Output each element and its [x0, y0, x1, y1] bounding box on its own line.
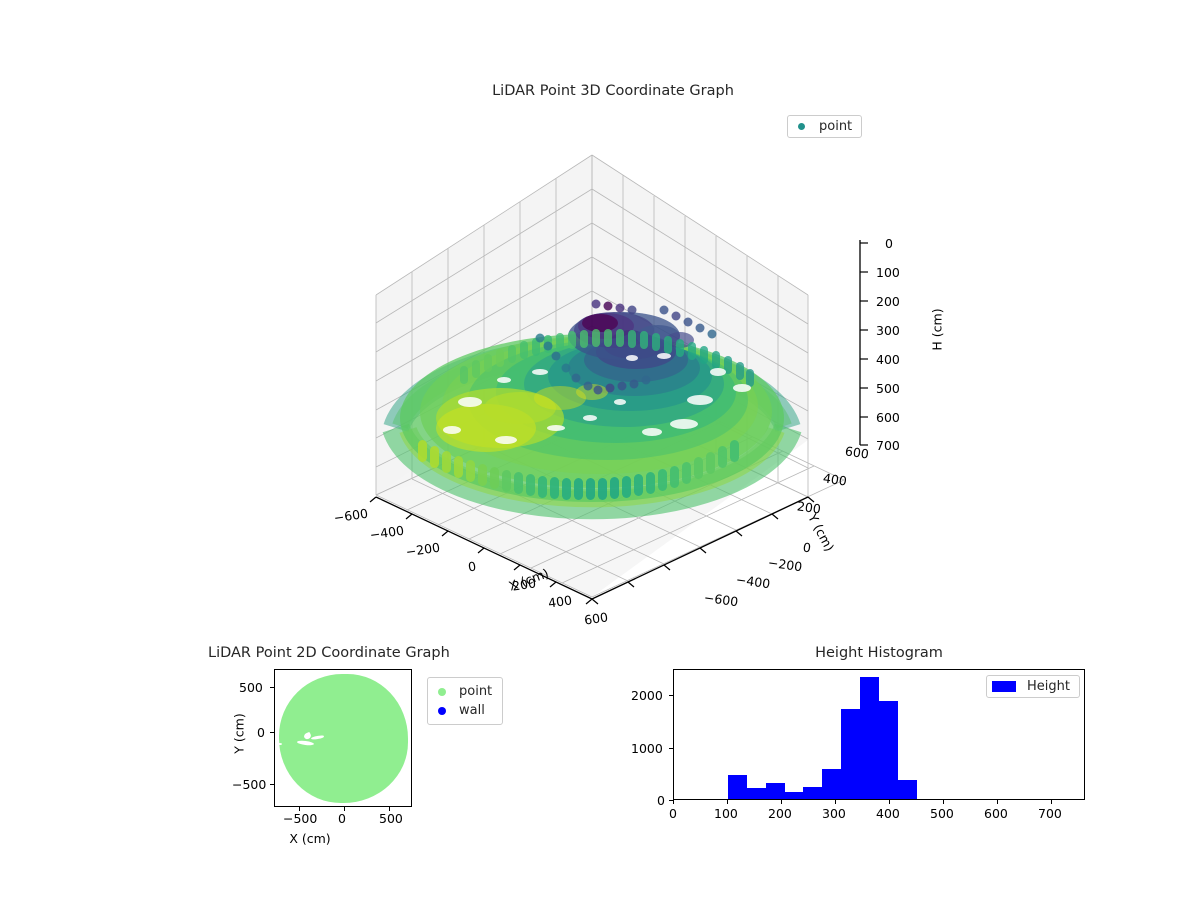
plot2d-ytickmark-0: [270, 687, 274, 688]
plot2d-xlabel: X (cm): [0, 831, 412, 846]
histogram-xtick-6: 600: [984, 806, 1008, 821]
legend-marker-wall-2d: [438, 707, 446, 715]
histogram-bar: [822, 769, 841, 799]
histogram-bar: [898, 780, 917, 799]
histogram-xtick-2: 200: [768, 806, 792, 821]
legend-label-wall-2d: wall: [459, 703, 485, 718]
histogram-bar: [728, 775, 747, 799]
plot2d-xtickmark-0: [299, 807, 300, 811]
histogram-xtick-1: 100: [714, 806, 738, 821]
plot3d-ztick-0: 0: [885, 236, 893, 251]
histogram-xtick-7: 700: [1038, 806, 1062, 821]
histogram-legend[interactable]: Height: [986, 675, 1080, 698]
histogram-bar: [747, 788, 766, 799]
plot2d-ytick-1: 0: [257, 725, 265, 740]
histogram-xtick-3: 300: [822, 806, 846, 821]
histogram-ytickmark-2: [669, 695, 673, 696]
plot2d-xtick-2: 500: [379, 811, 403, 826]
plot3d-ztick-5: 500: [876, 381, 900, 396]
plot3d-ztick-6: 600: [876, 410, 900, 425]
legend-label-height: Height: [1027, 679, 1070, 694]
histogram-xtick-0: 0: [669, 806, 677, 821]
histogram-axes[interactable]: Height: [673, 669, 1085, 800]
plot3d-ztick-1: 100: [876, 265, 900, 280]
plot3d-canvas: [0, 140, 1200, 630]
plot2d-ylabel: Y (cm): [232, 713, 247, 753]
plot3d-legend[interactable]: point: [787, 115, 862, 138]
plot3d-axes[interactable]: −600 −400 −200 0 200 400 600 X (cm) −600…: [0, 140, 1200, 630]
plot2d-title: LiDAR Point 2D Coordinate Graph: [208, 645, 450, 661]
histogram-bar: [785, 792, 804, 799]
plot3d-zlabel: H (cm): [930, 308, 945, 350]
histogram-bar: [803, 787, 822, 799]
histogram-bar: [841, 709, 860, 799]
plot3d-ztick-4: 400: [876, 352, 900, 367]
plot3d-ztick-2: 200: [876, 294, 900, 309]
plot2d-ytickmark-1: [270, 732, 274, 733]
matplotlib-figure: LiDAR Point 3D Coordinate Graph point: [0, 0, 1200, 900]
histogram-xtickmark-3: [835, 800, 836, 804]
plot2d-legend[interactable]: point wall: [427, 677, 503, 725]
plot3d-ytick-6: 600: [844, 443, 870, 461]
plot2d-ytick-2: −500: [232, 777, 266, 792]
histogram-ytick-2: 2000: [631, 688, 663, 703]
histogram-xtickmark-5: [943, 800, 944, 804]
histogram-xtickmark-6: [997, 800, 998, 804]
histogram-xtick-4: 400: [876, 806, 900, 821]
legend-swatch-height: [992, 681, 1016, 692]
legend-label-point-3d: point: [819, 119, 852, 134]
plot2d-xtick-1: 0: [338, 811, 346, 826]
plot2d-xtickmark-2: [389, 807, 390, 811]
plot2d-ytick-0: 500: [239, 680, 263, 695]
histogram-title: Height Histogram: [673, 645, 1085, 661]
legend-label-point-2d: point: [459, 684, 492, 699]
plot2d-xtickmark-1: [344, 807, 345, 811]
plot3d-ztick-3: 300: [876, 323, 900, 338]
histogram-ytickmark-1: [669, 748, 673, 749]
histogram-xtickmark-0: [673, 800, 674, 804]
histogram-bar: [766, 783, 785, 799]
legend-entry-point-2d[interactable]: point: [434, 682, 492, 701]
legend-entry-wall-2d[interactable]: wall: [434, 701, 492, 720]
point-cloud-2d-gap-3: [277, 743, 282, 745]
point-cloud-2d-bulge: [379, 704, 401, 730]
plot2d-xtick-0: −500: [283, 811, 317, 826]
point-cloud-2d: [279, 674, 408, 803]
histogram-ytick-0: 0: [657, 793, 665, 808]
plot2d-ytickmark-2: [270, 784, 274, 785]
histogram-xtick-5: 500: [930, 806, 954, 821]
legend-marker-point-2d: [438, 688, 446, 696]
point-cloud-3d: [396, 300, 788, 511]
plot3d-ytick-5: 400: [822, 470, 848, 488]
histogram-bar: [860, 677, 879, 799]
histogram-xtickmark-7: [1051, 800, 1052, 804]
plot2d-axes[interactable]: [274, 669, 412, 807]
legend-marker-point-3d: [798, 123, 805, 130]
plot3d-ztick-7: 700: [876, 438, 900, 453]
histogram-ytick-1: 1000: [631, 741, 663, 756]
histogram-bar: [879, 701, 898, 799]
histogram-xtickmark-2: [781, 800, 782, 804]
histogram-xtickmark-4: [889, 800, 890, 804]
histogram-xtickmark-1: [727, 800, 728, 804]
plot3d-title: LiDAR Point 3D Coordinate Graph: [0, 83, 1200, 99]
